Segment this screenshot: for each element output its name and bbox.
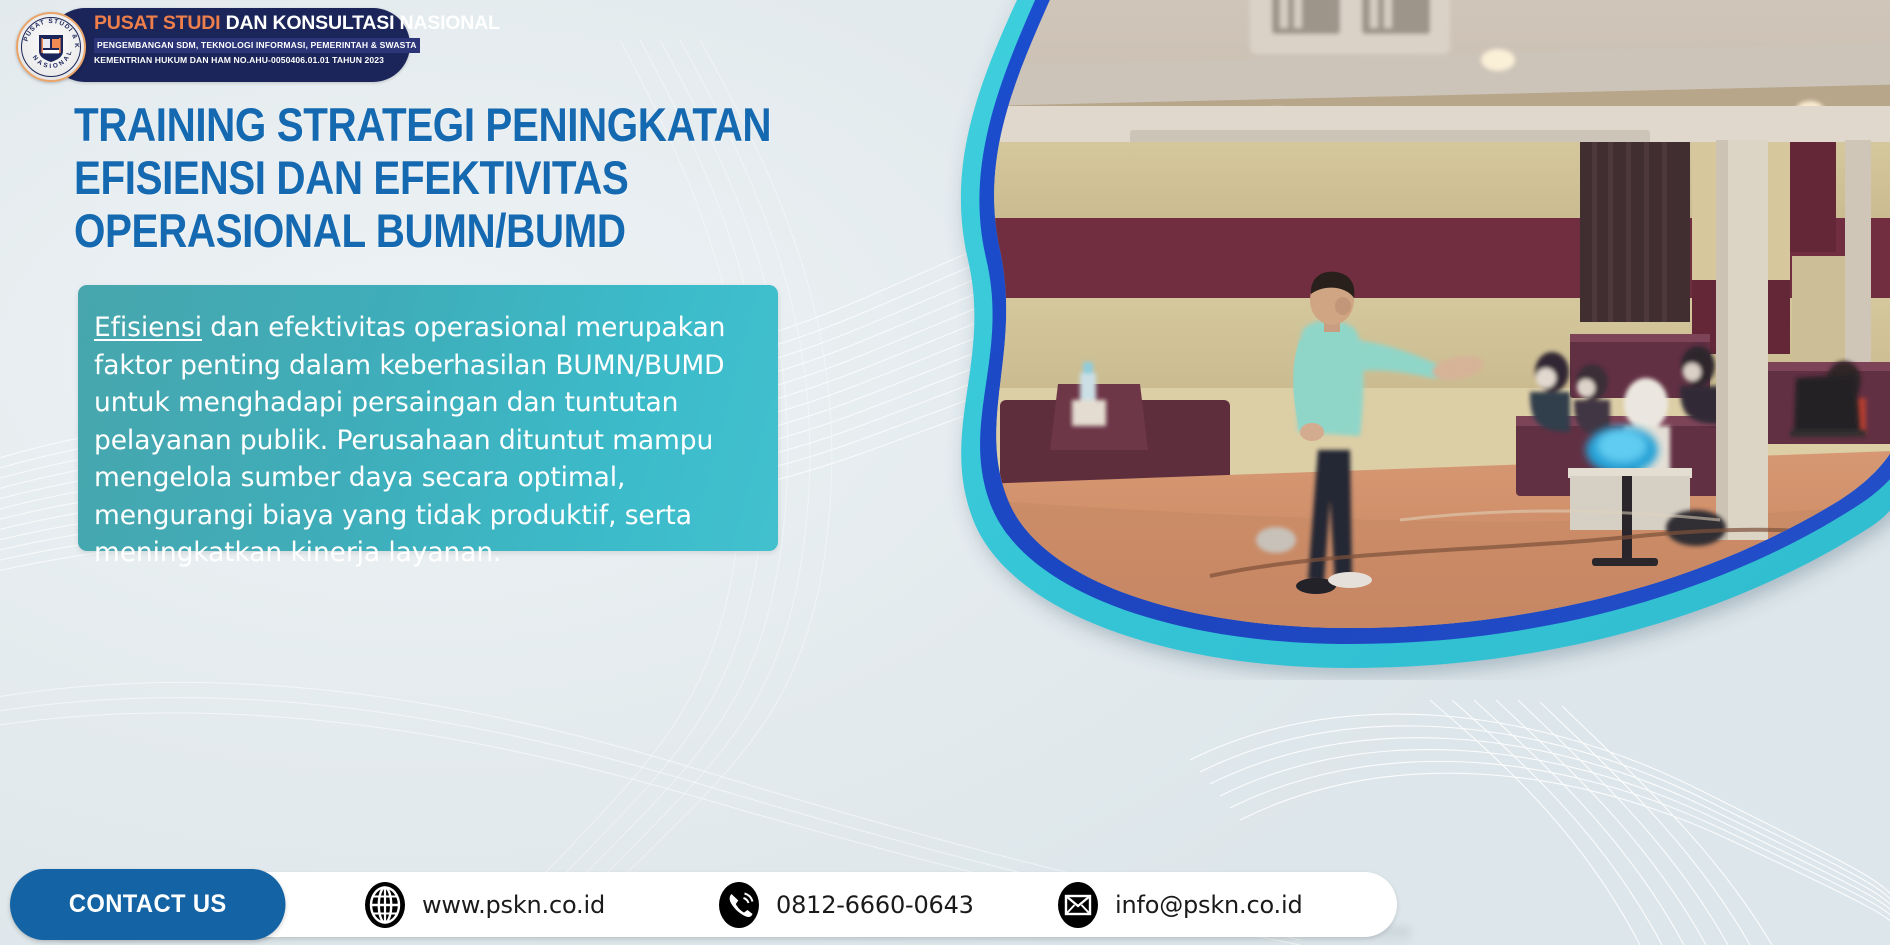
brand-name-part2: DAN KONSULTASI NASIONAL	[226, 12, 500, 34]
description-lead: Efisiensi	[94, 312, 202, 343]
promo-poster: PUSAT STUDI & KONSULTASI NASIONAL PUSAT …	[0, 0, 1890, 945]
academic-crest-icon: PUSAT STUDI & KONSULTASI NASIONAL	[16, 12, 86, 82]
title-line-1: TRAINING STRATEGI PENINGKATAN	[74, 98, 779, 151]
brand-name: PUSAT STUDI DAN KONSULTASI NASIONAL	[94, 12, 406, 35]
email-icon	[1057, 881, 1099, 929]
description-body: dan efektivitas operasional merupakan fa…	[94, 312, 725, 568]
website-value: www.pskn.co.id	[422, 891, 605, 919]
contact-us-button[interactable]: CONTACT US	[10, 869, 286, 940]
brand-text-block: PUSAT STUDI DAN KONSULTASI NASIONAL PENG…	[94, 12, 406, 67]
brand-legal-id: KEMENTRIAN HUKUM DAN HAM NO.AHU-0050406.…	[94, 54, 406, 67]
contact-item-phone[interactable]: 0812-6660-0643	[718, 881, 974, 929]
email-value: info@pskn.co.id	[1115, 891, 1302, 919]
brand-header: PUSAT STUDI & KONSULTASI NASIONAL PUSAT …	[8, 8, 410, 82]
description-text: Efisiensi dan efektivitas operasional me…	[94, 309, 764, 572]
brand-subtitle: PENGEMBANGAN SDM, TEKNOLOGI INFORMASI, P…	[94, 38, 420, 53]
contact-item-website[interactable]: www.pskn.co.id	[364, 881, 605, 929]
description-card: Efisiensi dan efektivitas operasional me…	[78, 285, 778, 551]
training-room-photo	[880, 0, 1890, 680]
title-line-2: EFISIENSI DAN EFEKTIVITAS	[74, 151, 779, 204]
phone-icon	[718, 881, 760, 929]
page-title: TRAINING STRATEGI PENINGKATAN EFISIENSI …	[74, 98, 779, 257]
contact-item-email[interactable]: info@pskn.co.id	[1057, 881, 1302, 929]
contact-bar: CONTACT US www.pskn.co.id	[12, 872, 1397, 937]
crest-shield-icon	[36, 31, 66, 63]
phone-value: 0812-6660-0643	[776, 891, 974, 919]
title-line-3: OPERASIONAL BUMN/BUMD	[74, 204, 779, 257]
globe-icon	[364, 881, 406, 929]
brand-name-part1: PUSAT STUDI	[94, 12, 220, 34]
